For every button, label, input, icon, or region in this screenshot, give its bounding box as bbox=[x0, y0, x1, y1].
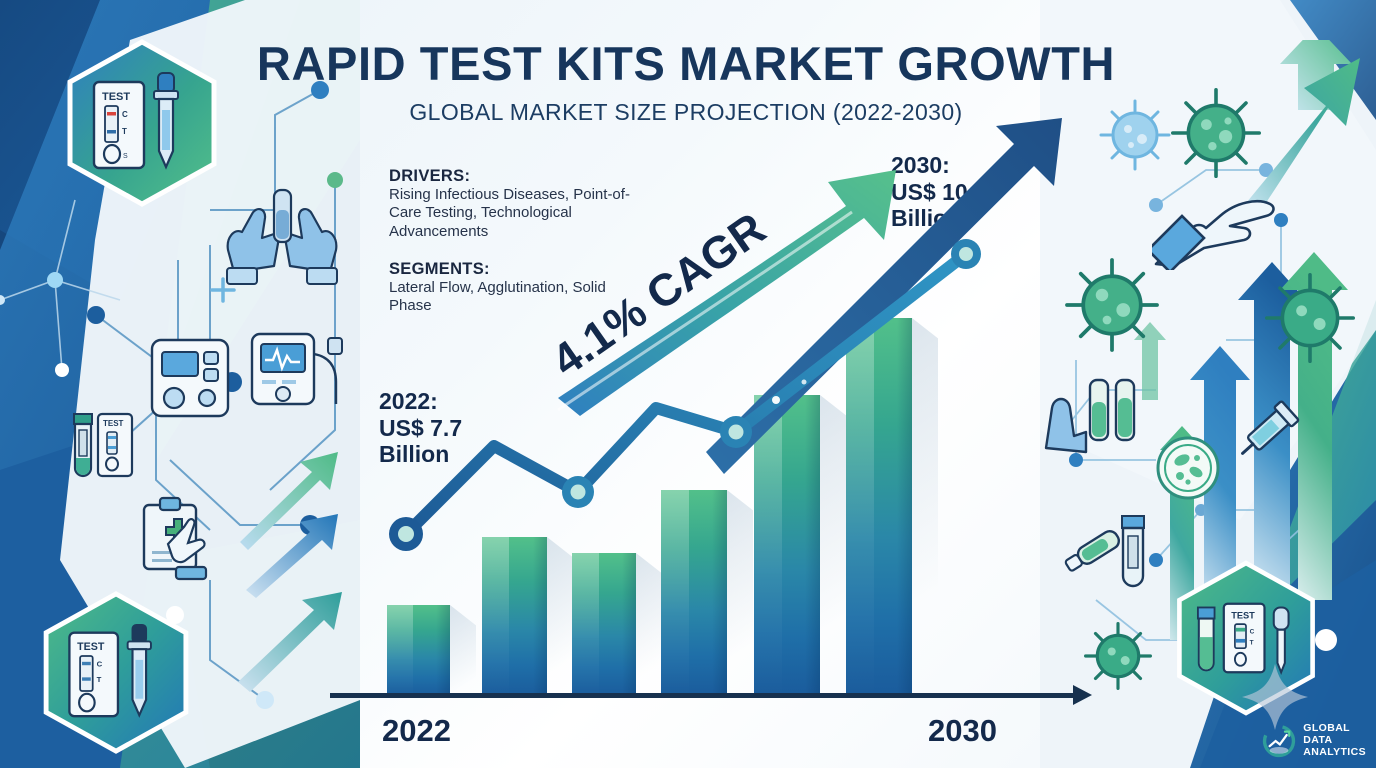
svg-text:TEST: TEST bbox=[77, 641, 105, 653]
test-kit-hexagon-icon-bottom: TEST C T bbox=[36, 590, 196, 755]
svg-text:T: T bbox=[122, 127, 127, 136]
svg-text:TEST: TEST bbox=[103, 419, 124, 428]
clipboard-checklist-hand-icon bbox=[140, 495, 220, 585]
svg-text:C: C bbox=[1250, 628, 1255, 635]
svg-text:TEST: TEST bbox=[1231, 611, 1255, 621]
svg-text:S: S bbox=[123, 153, 128, 160]
syringe-icon bbox=[1230, 390, 1310, 470]
infographic-canvas: TEST C T S bbox=[0, 0, 1376, 768]
virus-icon-4 bbox=[1262, 270, 1358, 366]
svg-text:C: C bbox=[122, 110, 128, 119]
plus-icon bbox=[208, 275, 238, 305]
test-cassette-label: TEST bbox=[102, 91, 130, 103]
analyzer-device-icon bbox=[148, 336, 232, 420]
svg-text:C: C bbox=[97, 660, 103, 669]
petri-dish-icon bbox=[1152, 432, 1224, 504]
svg-text:T: T bbox=[1250, 639, 1254, 646]
virus-icon-2 bbox=[1168, 85, 1264, 181]
svg-text:T: T bbox=[97, 675, 102, 684]
logo-line-3: ANALYTICS bbox=[1303, 747, 1366, 759]
trend-overlay: 4.1% CAGR bbox=[236, 0, 1136, 768]
logo-text: GLOBAL DATA ANALYTICS bbox=[1303, 723, 1366, 759]
blood-tube-and-cassette-icon: TEST bbox=[72, 410, 136, 484]
test-kit-hexagon-icon-top: TEST C T S bbox=[62, 38, 222, 208]
logo-diamond-icon bbox=[1240, 662, 1310, 732]
main-content: RAPID TEST KITS MARKET GROWTH GLOBAL MAR… bbox=[236, 0, 1136, 768]
open-hand-icon bbox=[1152, 180, 1282, 270]
